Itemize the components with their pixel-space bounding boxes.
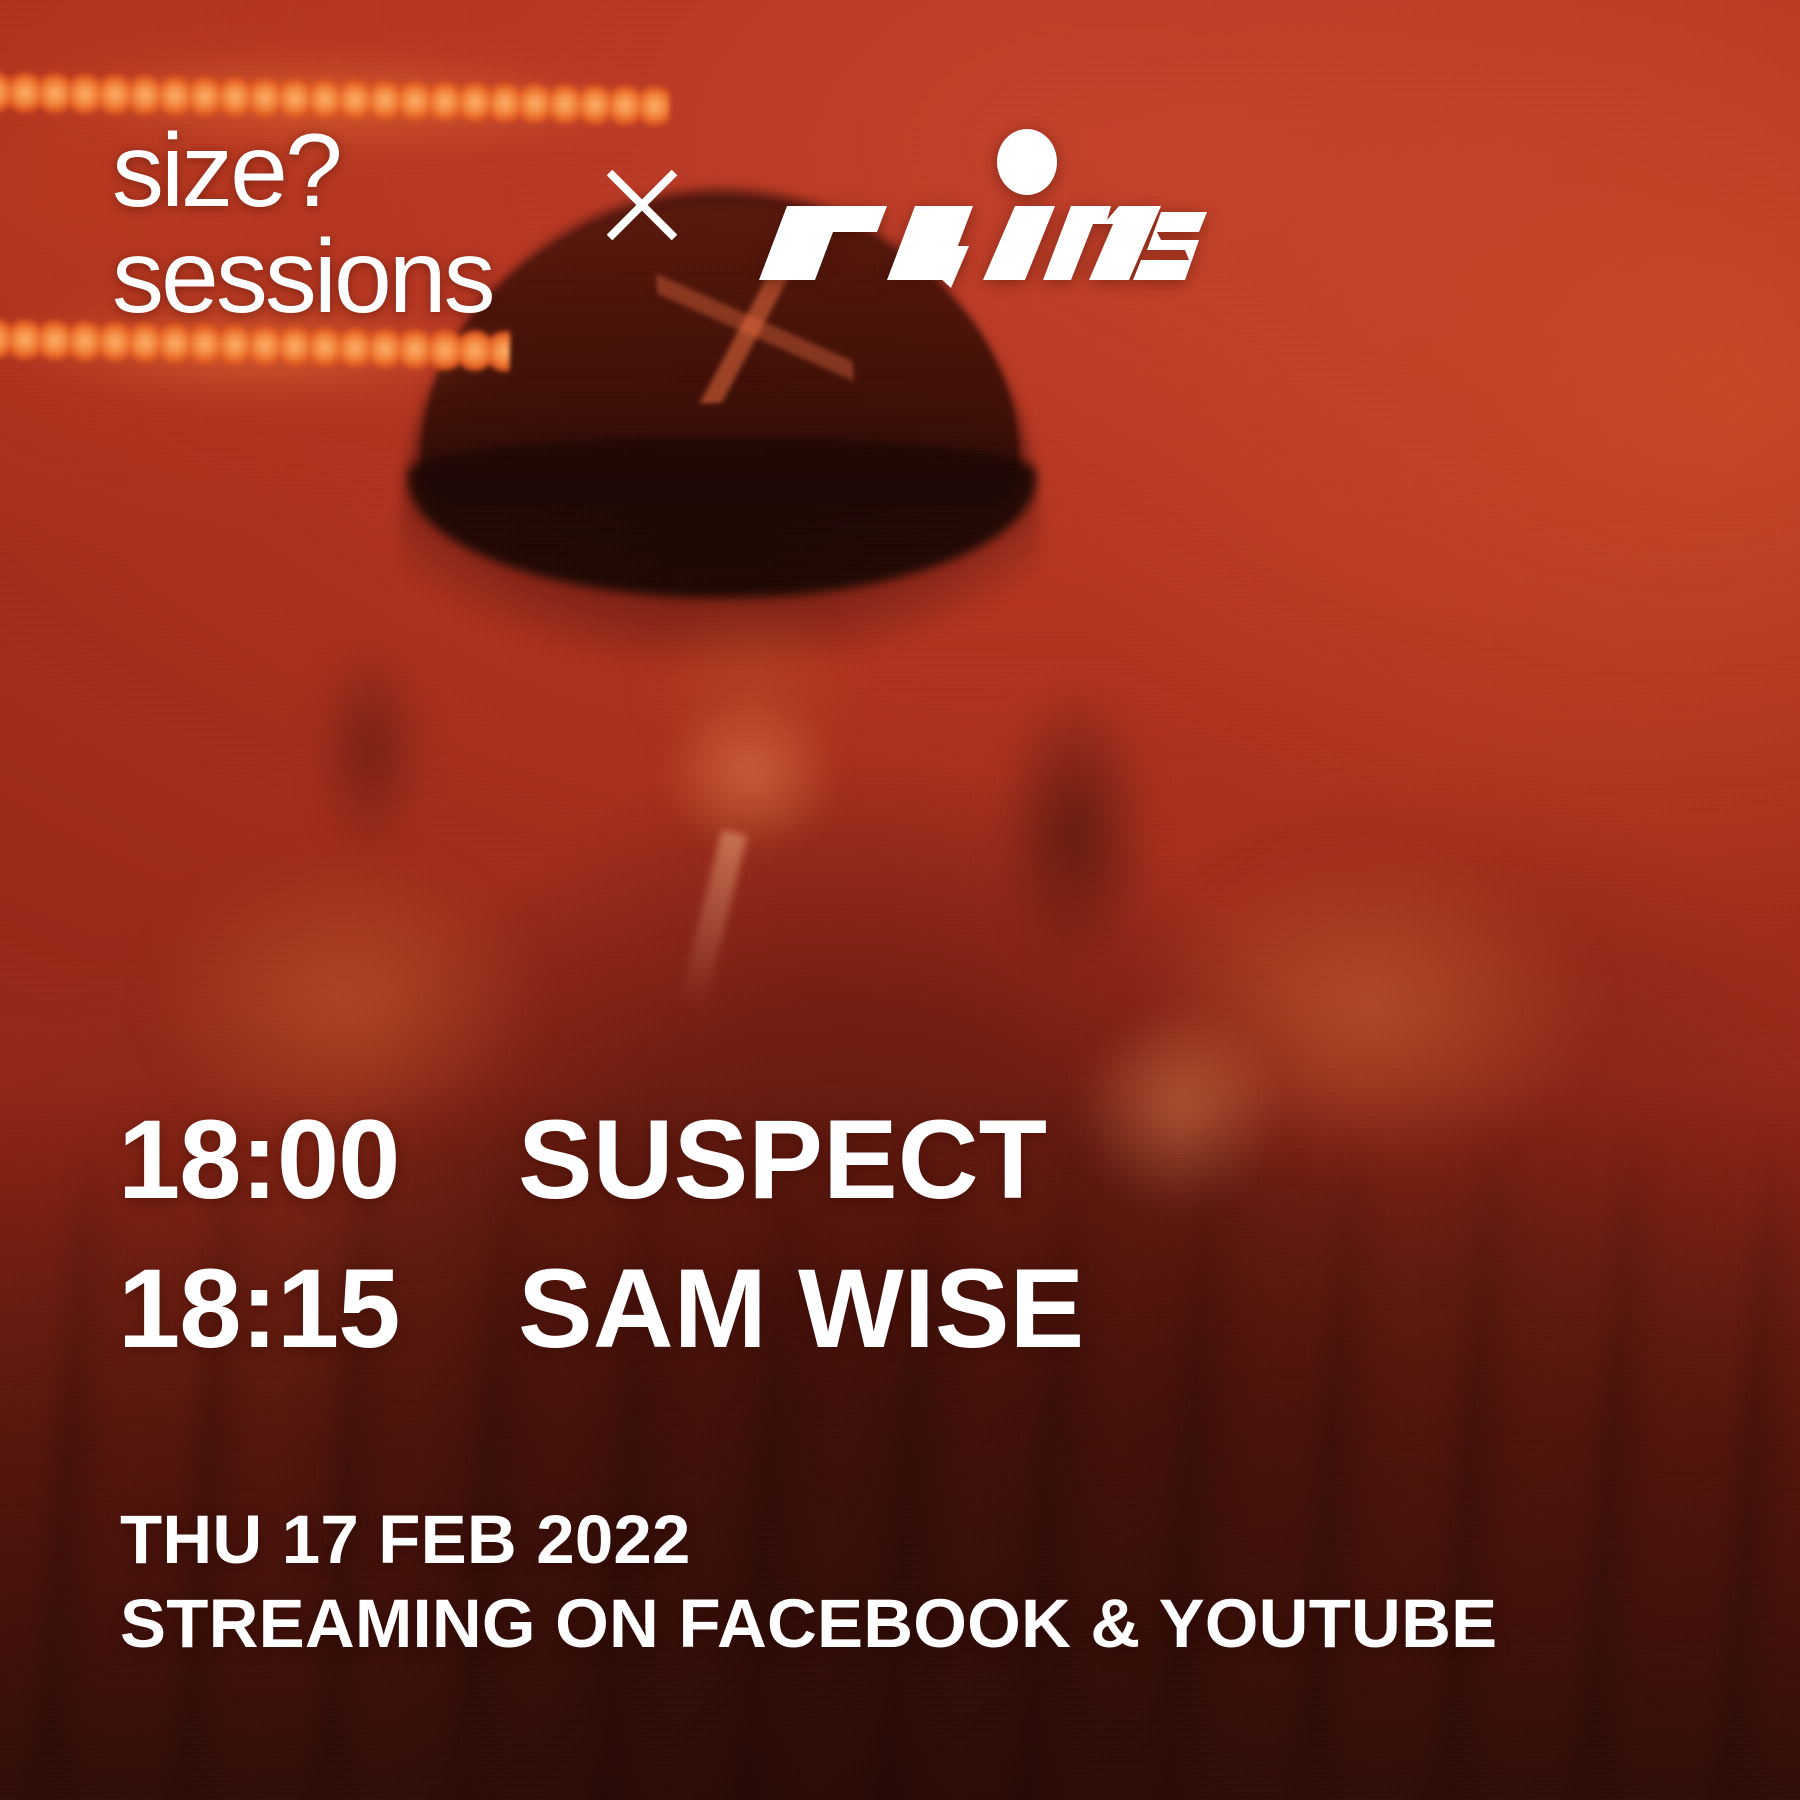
brand-lockup: size? sessions bbox=[112, 118, 1207, 330]
poster-foreground: size? sessions bbox=[0, 0, 1800, 1800]
rinse-fm-logo bbox=[737, 128, 1207, 288]
event-details: THU 17 FEB 2022 STREAMING ON FACEBOOK & … bbox=[120, 1498, 1497, 1666]
set-artist: SAM WISE bbox=[518, 1244, 1084, 1373]
set-time-row: 18:15 SAM WISE bbox=[118, 1244, 1084, 1373]
event-poster: size? sessions bbox=[0, 0, 1800, 1800]
size-logo-line2: sessions bbox=[112, 224, 493, 330]
size-logo-line1: size? bbox=[112, 118, 493, 224]
set-times-list: 18:00 SUSPECT 18:15 SAM WISE bbox=[118, 1095, 1084, 1373]
streaming-platforms: STREAMING ON FACEBOOK & YOUTUBE bbox=[120, 1582, 1497, 1666]
set-artist: SUSPECT bbox=[518, 1095, 1047, 1224]
collab-x-icon bbox=[605, 168, 679, 242]
size-sessions-logo: size? sessions bbox=[112, 118, 493, 330]
set-time: 18:00 bbox=[118, 1095, 518, 1224]
set-time: 18:15 bbox=[118, 1244, 518, 1373]
event-date: THU 17 FEB 2022 bbox=[120, 1498, 1497, 1582]
set-time-row: 18:00 SUSPECT bbox=[118, 1095, 1084, 1224]
